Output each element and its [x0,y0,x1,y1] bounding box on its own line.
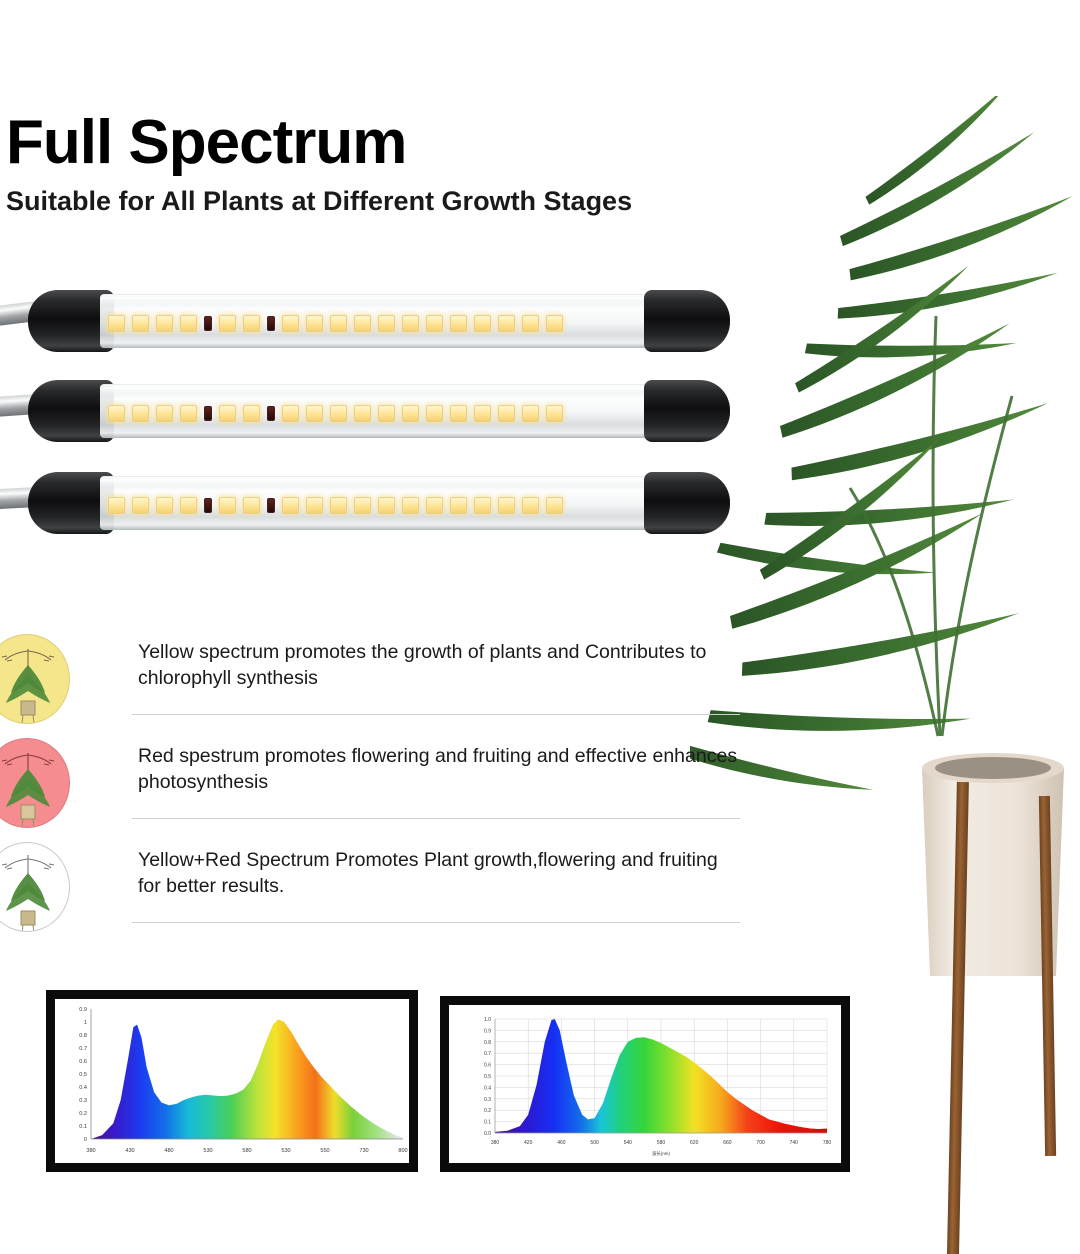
plant-under-red-light-icon [0,738,70,828]
product-infographic: Full Spectrum Suitable for All Plants at… [0,0,1080,1254]
svg-text:0: 0 [84,1137,87,1143]
led-chip [522,315,539,332]
svg-text:1.0: 1.0 [484,1017,491,1023]
plant-under-full-spectrum-light-icon [0,842,70,932]
led-chip [306,405,323,422]
svg-text:波长(nm): 波长(nm) [652,1150,670,1157]
led-chip [498,315,515,332]
red-led-chip [204,316,212,331]
led-chip [546,405,563,422]
svg-text:0.4: 0.4 [484,1085,491,1091]
led-chip [474,405,491,422]
svg-text:780: 780 [823,1140,832,1146]
light-tube [100,476,666,530]
led-chip [180,315,197,332]
plant-under-yellow-light-icon [0,634,70,724]
svg-text:1: 1 [84,1020,87,1026]
svg-text:730: 730 [359,1148,368,1154]
led-chip [354,315,371,332]
svg-text:0.5: 0.5 [79,1072,87,1078]
heading-block: Full Spectrum Suitable for All Plants at… [6,112,726,219]
led-chip [522,405,539,422]
svg-text:0.3: 0.3 [484,1097,491,1103]
svg-text:700: 700 [756,1140,765,1146]
led-chip [219,497,236,514]
tube-highlight [100,297,666,306]
led-chip [546,497,563,514]
svg-text:460: 460 [557,1140,566,1146]
led-chip [219,405,236,422]
feature-text: Yellow spectrum promotes the growth of p… [138,640,738,691]
svg-text:0.6: 0.6 [79,1059,87,1065]
svg-text:0.8: 0.8 [79,1033,87,1039]
svg-text:580: 580 [657,1140,666,1146]
light-tube [100,384,666,438]
svg-text:0.4: 0.4 [79,1085,87,1091]
svg-text:530: 530 [281,1148,290,1154]
svg-text:620: 620 [690,1140,699,1146]
led-chip [132,497,149,514]
led-chip [474,497,491,514]
palm-stems [850,316,1012,736]
led-chip [354,405,371,422]
led-chip [522,497,539,514]
led-strip [108,494,658,516]
tube-highlight [100,479,666,488]
svg-text:500: 500 [590,1140,599,1146]
led-chip [426,315,443,332]
feature-item: Red spestrum promotes flowering and frui… [0,730,760,834]
svg-text:0.1: 0.1 [484,1120,491,1126]
red-led-chip [204,406,212,421]
svg-text:380: 380 [491,1140,500,1146]
page-title: Full Spectrum [6,112,726,174]
led-chip [450,405,467,422]
led-chip [498,405,515,422]
spectrum-chart-left: 0.910.80.70.60.50.40.30.20.10 3804304805… [46,990,418,1172]
end-cap-right [644,380,730,442]
led-chip [330,497,347,514]
svg-text:660: 660 [723,1140,732,1146]
led-chip [474,315,491,332]
palm-fronds-upper [805,96,1079,396]
svg-text:0.9: 0.9 [484,1028,491,1034]
page-subtitle: Suitable for All Plants at Different Gro… [6,184,706,219]
led-chip [306,497,323,514]
led-chip [282,497,299,514]
svg-text:580: 580 [242,1148,251,1154]
svg-text:0.7: 0.7 [79,1046,87,1052]
led-chip [546,315,563,332]
end-cap-right [644,290,730,352]
svg-text:0.5: 0.5 [484,1074,491,1080]
led-chip [378,497,395,514]
feature-item: Yellow+Red Spectrum Promotes Plant growt… [0,834,760,938]
led-chip [132,405,149,422]
svg-text:480: 480 [164,1148,173,1154]
svg-text:380: 380 [86,1148,95,1154]
feature-divider [132,714,740,715]
svg-text:800: 800 [398,1148,407,1154]
led-chip [156,497,173,514]
red-led-chip [267,406,275,421]
led-chip [243,405,260,422]
led-chip [330,405,347,422]
led-chip [132,315,149,332]
svg-text:0.7: 0.7 [484,1051,491,1057]
svg-text:550: 550 [320,1148,329,1154]
svg-text:740: 740 [790,1140,799,1146]
svg-text:530: 530 [203,1148,212,1154]
svg-text:0.9: 0.9 [79,1007,87,1013]
light-tube [100,294,666,348]
svg-text:0.6: 0.6 [484,1063,491,1069]
svg-text:0.1: 0.1 [79,1124,87,1130]
led-chip [282,315,299,332]
led-chip [402,405,419,422]
led-chip [306,315,323,332]
led-strip [108,312,658,334]
feature-text: Red spestrum promotes flowering and frui… [138,744,738,795]
led-chip [378,315,395,332]
svg-text:0.2: 0.2 [484,1108,491,1114]
svg-text:0.2: 0.2 [79,1111,87,1117]
led-chip [402,315,419,332]
led-chip [378,405,395,422]
led-chip [498,497,515,514]
svg-text:430: 430 [125,1148,134,1154]
led-chip [156,315,173,332]
led-strip [108,402,658,424]
led-chip [330,315,347,332]
red-led-chip [267,498,275,513]
red-led-chip [204,498,212,513]
svg-text:0.3: 0.3 [79,1098,87,1104]
end-cap-right [644,472,730,534]
led-chip [219,315,236,332]
feature-text: Yellow+Red Spectrum Promotes Plant growt… [138,848,738,899]
feature-item: Yellow spectrum promotes the growth of p… [0,626,760,730]
led-chip [180,497,197,514]
feature-list: Yellow spectrum promotes the growth of p… [0,626,760,938]
led-chip [156,405,173,422]
feature-divider [132,818,740,819]
svg-text:0.0: 0.0 [484,1131,491,1137]
led-chip [180,405,197,422]
led-chip [450,315,467,332]
red-led-chip [267,316,275,331]
tube-highlight [100,387,666,396]
spectrum-chart-right: 1.00.90.80.70.60.50.40.30.20.10.0 380420… [440,996,850,1172]
led-chip [108,405,125,422]
led-chip [426,497,443,514]
led-chip [354,497,371,514]
led-chip [402,497,419,514]
led-chip [450,497,467,514]
led-chip [282,405,299,422]
svg-text:420: 420 [524,1140,533,1146]
led-chip [426,405,443,422]
led-chip [243,497,260,514]
led-chip [108,497,125,514]
feature-divider [132,922,740,923]
led-chip [243,315,260,332]
svg-text:540: 540 [624,1140,633,1146]
svg-text:0.8: 0.8 [484,1040,491,1046]
led-chip [108,315,125,332]
